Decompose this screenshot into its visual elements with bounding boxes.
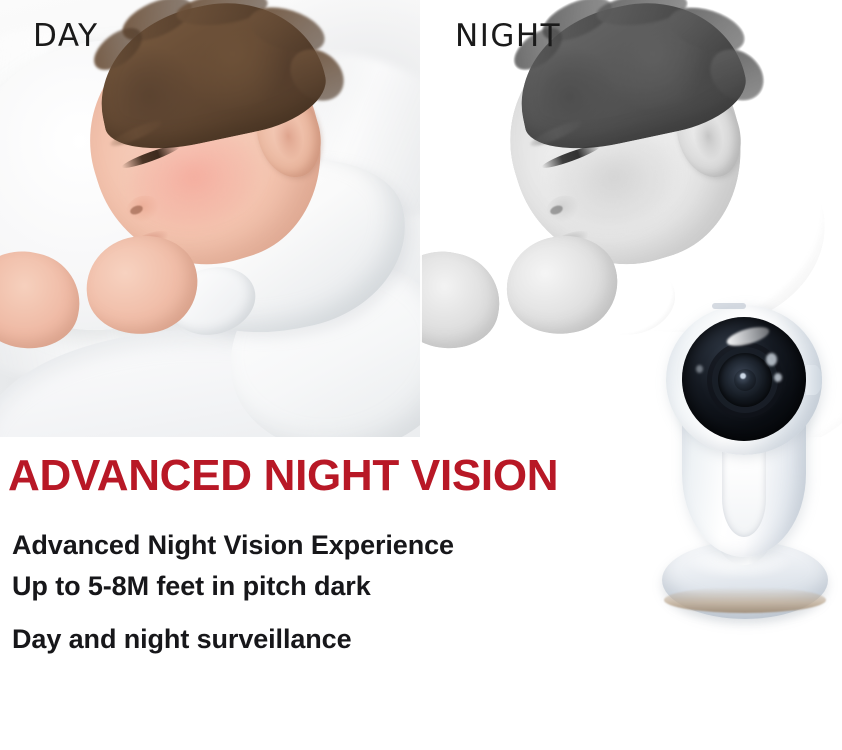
day-scene-image [0,0,420,437]
camera-top-slot [712,303,746,309]
pane-divider [420,0,422,437]
product-marketing-poster: DAY [0,0,842,750]
camera-side-button [806,365,822,395]
camera-lens-aperture [734,369,756,391]
camera-lens-glint [740,373,746,379]
lens-highlight-dot [696,365,703,373]
day-label: DAY [33,18,99,54]
camera-base-rim [664,587,826,613]
feature-item: Advanced Night Vision Experience [12,530,572,561]
feature-list: Advanced Night Vision Experience Up to 5… [12,530,572,655]
lens-highlight-dot [766,353,777,366]
day-photo-pane: DAY [0,0,420,437]
page-title: ADVANCED NIGHT VISION [8,451,558,501]
feature-item: Day and night surveillance [12,624,572,655]
night-label: NIGHT [455,18,561,54]
lens-highlight-dot [774,373,782,382]
feature-item: Up to 5-8M feet in pitch dark [12,571,572,602]
ip-camera-product-image [648,303,838,633]
